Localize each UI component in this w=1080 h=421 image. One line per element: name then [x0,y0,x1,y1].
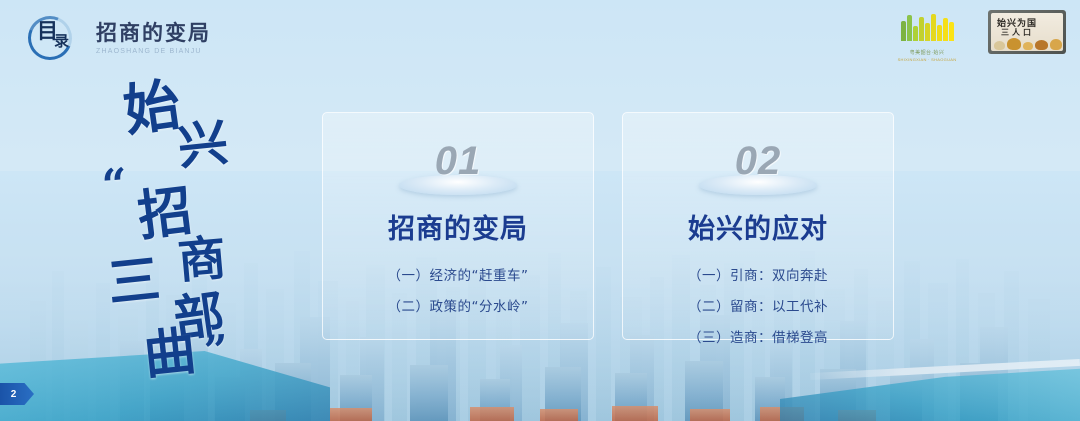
slide-root: 目 录 招商的变局 ZHAOSHANG DE BIANJU 粤美韶台·始兴 SH… [0,0,1080,421]
brand-logo-group: 粤美韶台·始兴 SHIXINGXIAN · SHAOGUAN 始兴为国 三人口 [888,8,1066,56]
page-number-badge: 2 [0,383,34,405]
page-title: 招商的变局 [96,17,211,47]
list-item[interactable]: （二）政策的“分水岭” [388,295,529,315]
card-item-list: （一）引商：双向奔赴 （二）留商：以工代补 （三）造商：借梯登高 [623,264,893,346]
agenda-card-01[interactable]: 01 招商的变局 （一）经济的“赶重车” （二）政策的“分水岭” [322,112,594,340]
agenda-card-02[interactable]: 02 始兴的应对 （一）引商：双向奔赴 （二）留商：以工代补 （三）造商：借梯登… [622,112,894,340]
slide-header: 目 录 招商的变局 ZHAOSHANG DE BIANJU [26,14,211,58]
mulu-char-bottom: 录 [54,34,69,49]
card-number: 01 [435,141,482,187]
list-item[interactable]: （一）经济的“赶重车” [388,264,529,284]
page-number-text: 2 [11,389,17,400]
cartoon-figures-icon [994,38,1062,50]
list-item[interactable]: （三）造商：借梯登高 [688,326,828,346]
calligraphy-title: 始 兴 “ 招 商 三 部 曲 ” [96,78,276,368]
callig-quote-close: ” [203,329,229,372]
callig-char-5: 三 [105,253,162,310]
callig-char-1: 始 [120,76,183,139]
list-item[interactable]: （一）引商：双向奔赴 [688,264,828,284]
callig-char-3: 招 [135,183,195,243]
yuebei-logo-icon: 粤美韶台·始兴 SHIXINGXIAN · SHAOGUAN [888,8,966,56]
card-number-wrap: 01 [323,135,593,193]
yuebei-logo-caption-en: SHIXINGXIAN · SHAOGUAN [888,57,966,62]
mulu-logo-icon: 目 录 [26,14,82,58]
shixing-weiguo-logo-icon: 始兴为国 三人口 [988,10,1066,54]
callig-char-7: 曲 [141,325,198,382]
card-title: 招商的变局 [323,207,593,246]
shixing-logo-line2: 三人口 [1001,27,1034,38]
river [0,351,330,421]
card-title: 始兴的应对 [623,207,893,246]
callig-char-4: 商 [176,234,228,286]
callig-char-6: 部 [171,289,227,345]
list-item[interactable]: （二）留商：以工代补 [688,295,828,315]
card-number-wrap: 02 [623,135,893,193]
callig-quote-open: “ [100,163,128,209]
bridge [810,359,1080,380]
page-subtitle: ZHAOSHANG DE BIANJU [96,48,211,55]
callig-char-2: 兴 [176,118,231,173]
yuebei-logo-caption: 粤美韶台·始兴 [888,49,966,56]
card-number: 02 [735,141,782,187]
agenda-cards: 01 招商的变局 （一）经济的“赶重车” （二）政策的“分水岭” 02 始兴的应… [322,112,894,340]
card-item-list: （一）经济的“赶重车” （二）政策的“分水岭” [323,264,593,315]
river-right [780,363,1080,421]
